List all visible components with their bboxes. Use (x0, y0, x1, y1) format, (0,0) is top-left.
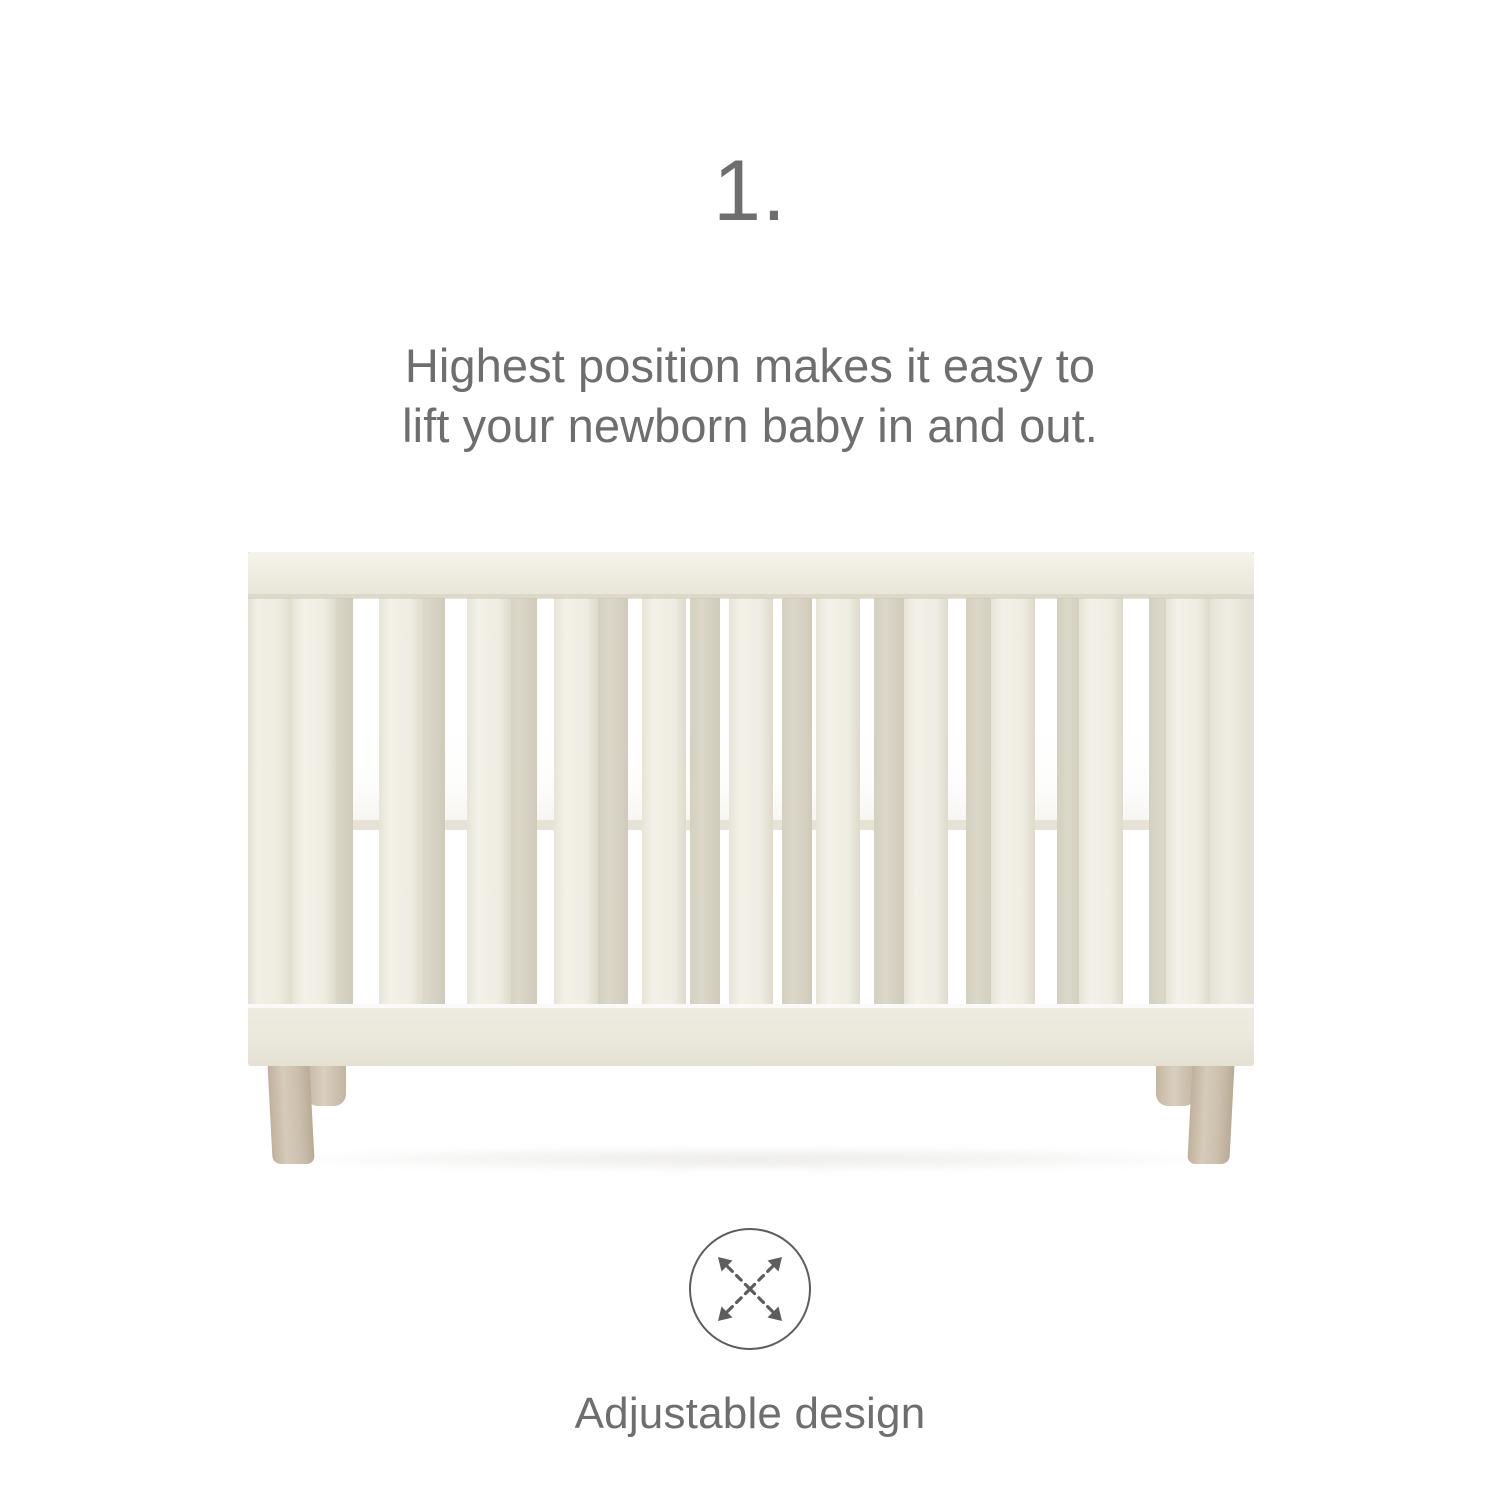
crib-front-slat (642, 598, 686, 1010)
crib-front-slat (991, 598, 1035, 1010)
crib-illustration (248, 552, 1254, 1172)
crib-rear-slat (598, 598, 628, 1008)
crib-front-slat (816, 598, 860, 1010)
crib-bottom-rail (248, 1004, 1254, 1066)
crib-rear-slat (507, 598, 537, 1008)
crib-leg-front-right (1187, 1060, 1234, 1164)
crib-post-left (248, 552, 292, 1064)
feature-card: 1. Highest position makes it easy to lif… (0, 0, 1500, 1500)
crib-front-slat (554, 598, 598, 1010)
crib-front-slat (729, 598, 773, 1010)
crib-top-rail-shadow (248, 594, 1254, 599)
crib-front-slat (292, 598, 336, 1010)
badge-circle (689, 1228, 811, 1350)
crib-bottom-rail-highlight (248, 1004, 1254, 1008)
crib-floor-shadow (268, 1146, 1234, 1172)
badge-caption: Adjustable design (575, 1392, 926, 1436)
crib-rear-slat (782, 598, 812, 1008)
crib-top-rail (248, 552, 1254, 598)
crib-front-slat (467, 598, 511, 1010)
feature-badge: Adjustable design (0, 1228, 1500, 1436)
crib-front-slat (1166, 598, 1210, 1010)
crib-front-slat (379, 598, 423, 1010)
crib-front-slat (904, 598, 948, 1010)
crib-post-right (1210, 552, 1254, 1064)
headline: Highest position makes it easy to lift y… (0, 336, 1500, 455)
headline-line-1: Highest position makes it easy to (0, 336, 1500, 396)
crib-leg-rear-left (306, 1060, 346, 1106)
four-way-expand-arrows-icon (707, 1246, 793, 1332)
crib-rear-slat (874, 598, 904, 1008)
crib-rear-slat (690, 598, 720, 1008)
crib-leg-front-left (267, 1060, 314, 1164)
step-number: 1. (0, 148, 1500, 234)
headline-line-2: lift your newborn baby in and out. (0, 396, 1500, 456)
crib-front-slat (1079, 598, 1123, 1010)
